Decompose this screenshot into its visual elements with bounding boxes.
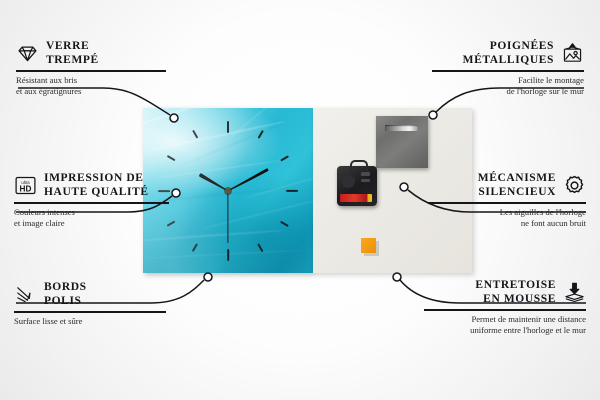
infographic-canvas: VERRE TREMPÉ Résistant aux bris et aux é… — [0, 0, 600, 400]
feature-description: Permet de maintenir une distance uniform… — [424, 314, 586, 337]
handle-slot — [385, 125, 418, 131]
feature-desc-line1: Surface lisse et sûre — [14, 316, 166, 327]
feature-title: MÉCANISME SILENCIEUX — [478, 172, 556, 199]
feature-mecanisme-silencieux: MÉCANISME SILENCIEUX Les aiguilles de l'… — [428, 172, 586, 229]
ultra-hd-icon: ultra HD — [14, 174, 37, 197]
polished-edges-icon — [14, 283, 37, 306]
feature-title-line1: IMPRESSION DE — [44, 172, 149, 186]
feature-title: POIGNÉES MÉTALLIQUES — [463, 40, 554, 67]
feature-desc-line2: de l'horloge sur le mur — [432, 86, 584, 97]
feature-desc-line1: Les aiguilles de l'horloge — [428, 207, 586, 218]
clock-minute-hand — [227, 167, 269, 192]
feature-title-line2: POLIS — [44, 295, 87, 309]
clock-tick — [192, 243, 198, 252]
feature-title-line1: MÉCANISME — [478, 172, 556, 186]
feature-header: VERRE TREMPÉ — [16, 40, 166, 67]
feature-header: MÉCANISME SILENCIEUX — [428, 172, 586, 199]
diamond-icon — [16, 42, 39, 65]
foam-spacer — [361, 238, 376, 253]
feature-header: ultra HD IMPRESSION DE HAUTE QUALITÉ — [14, 172, 169, 199]
clock-tick — [280, 220, 289, 226]
feature-description: Résistant aux bris et aux égratignures — [16, 75, 166, 98]
feature-desc-line1: Permet de maintenir une distance — [424, 314, 586, 325]
battery — [340, 194, 372, 202]
clock-tick — [192, 129, 198, 138]
feature-divider — [14, 311, 166, 312]
feature-divider — [428, 202, 586, 203]
feature-divider — [16, 70, 166, 71]
feature-title: BORDS POLIS — [44, 281, 87, 308]
feature-header: BORDS POLIS — [14, 281, 166, 308]
feature-title-line1: VERRE — [46, 40, 99, 54]
feature-title-line1: POIGNÉES — [463, 40, 554, 54]
feature-desc-line2: et image claire — [14, 218, 169, 229]
feature-impression-haute-qualite: ultra HD IMPRESSION DE HAUTE QUALITÉ Cou… — [14, 172, 169, 229]
clock-mechanism — [337, 166, 377, 206]
feature-poignees-metalliques: POIGNÉES MÉTALLIQUES Facilite le montage… — [432, 40, 584, 97]
feature-title-line2: MÉTALLIQUES — [463, 54, 554, 68]
feature-description: Facilite le montage de l'horloge sur le … — [432, 75, 584, 98]
feature-desc-line2: et aux égratignures — [16, 86, 166, 97]
feature-description: Surface lisse et sûre — [14, 316, 166, 327]
mechanism-detail — [361, 172, 370, 176]
feature-desc-line2: ne font aucun bruit — [428, 218, 586, 229]
feature-title-line2: HAUTE QUALITÉ — [44, 186, 149, 200]
feature-desc-line2: uniforme entre l'horloge et le mur — [424, 325, 586, 336]
clock-hub — [225, 188, 231, 194]
product-photo — [143, 108, 472, 273]
mechanism-detail — [361, 179, 370, 182]
feature-entretoise-en-mousse: ENTRETOISE EN MOUSSE Permet de maintenir… — [424, 279, 586, 336]
mechanism-dial — [342, 175, 355, 188]
feature-title-line1: ENTRETOISE — [475, 279, 556, 293]
clock-tick — [258, 129, 264, 138]
feature-desc-line1: Couleurs intenses — [14, 207, 169, 218]
svg-text:HD: HD — [20, 184, 32, 193]
feature-title-line1: BORDS — [44, 281, 87, 295]
clock-tick — [227, 121, 229, 133]
feature-description: Couleurs intenses et image claire — [14, 207, 169, 230]
feature-title: ENTRETOISE EN MOUSSE — [475, 279, 556, 306]
hanging-loop — [350, 160, 368, 171]
feature-title-line2: TREMPÉ — [46, 54, 99, 68]
clock-tick — [280, 155, 289, 161]
feature-header: ENTRETOISE EN MOUSSE — [424, 279, 586, 306]
feature-bords-polis: BORDS POLIS Surface lisse et sûre — [14, 281, 166, 327]
gear-icon — [563, 174, 586, 197]
clock-tick — [167, 155, 176, 161]
feature-header: POIGNÉES MÉTALLIQUES — [432, 40, 584, 67]
feature-title: IMPRESSION DE HAUTE QUALITÉ — [44, 172, 149, 199]
clock-second-hand — [227, 191, 228, 243]
feature-divider — [14, 202, 169, 203]
hanging-picture-icon — [561, 42, 584, 65]
feature-divider — [432, 70, 584, 71]
clock-tick — [258, 243, 264, 252]
feature-desc-line1: Résistant aux bris — [16, 75, 166, 86]
metal-handle-plate — [376, 116, 428, 168]
feature-desc-line1: Facilite le montage — [432, 75, 584, 86]
clock-tick — [286, 189, 298, 191]
feature-divider — [424, 309, 586, 310]
arrow-on-pad-icon — [563, 281, 586, 304]
feature-title: VERRE TREMPÉ — [46, 40, 99, 67]
feature-title-line2: EN MOUSSE — [475, 293, 556, 307]
feature-description: Les aiguilles de l'horloge ne font aucun… — [428, 207, 586, 230]
feature-verre-trempe: VERRE TREMPÉ Résistant aux bris et aux é… — [16, 40, 166, 97]
clock-tick — [227, 249, 229, 261]
feature-title-line2: SILENCIEUX — [478, 186, 556, 200]
